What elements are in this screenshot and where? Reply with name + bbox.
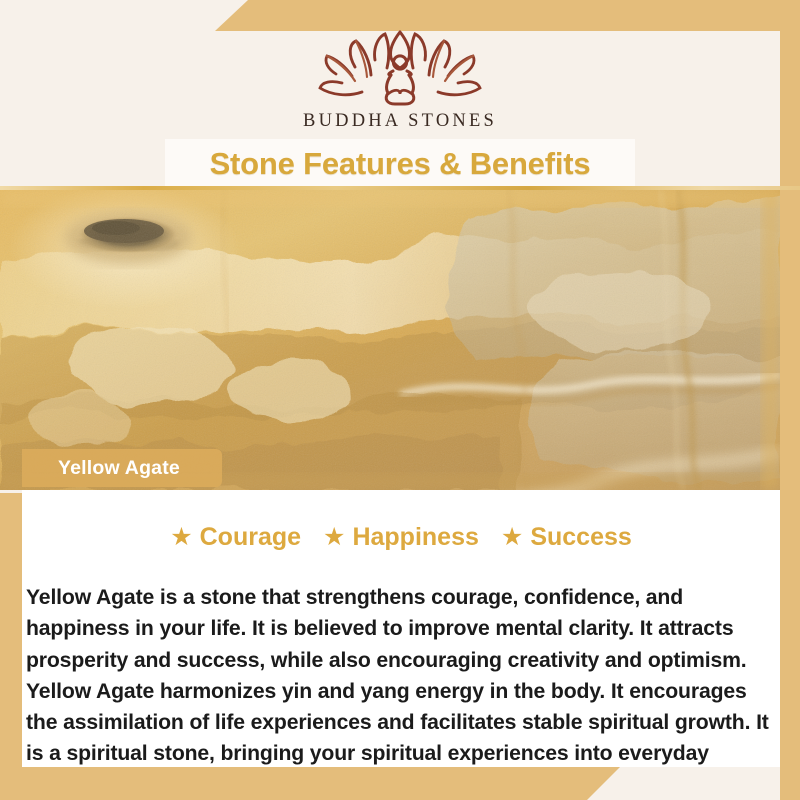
benefit-keyword-label: Happiness [352,525,478,550]
decor-band-left [0,493,22,800]
star-icon: ★ [501,525,523,550]
benefit-keyword-list: ★ Courage ★ Happiness ★ Success [22,518,780,556]
page-title: Stone Features & Benefits [165,139,635,188]
benefit-keyword-item: ★ Happiness [323,525,479,550]
benefit-keyword-label: Courage [200,525,301,550]
lotus-meditation-figure-icon [315,28,485,110]
star-icon: ★ [323,525,345,550]
stone-image [0,190,780,490]
decor-band-top-right [215,0,800,31]
stone-name-label: Yellow Agate [58,457,180,480]
benefit-keyword-label: Success [530,525,631,550]
agate-texture-graphic [0,190,780,490]
star-icon: ★ [170,525,192,550]
infographic-page: BUDDHA STONES Stone Features & Benefits [0,0,800,800]
stone-name-badge: Yellow Agate [22,449,222,487]
benefit-keyword-item: ★ Success [501,525,632,550]
brand-name: BUDDHA STONES [303,111,497,132]
decor-band-bottom [0,767,620,800]
benefit-keyword-item: ★ Courage [170,525,301,550]
brand-logo: BUDDHA STONES [0,28,800,140]
